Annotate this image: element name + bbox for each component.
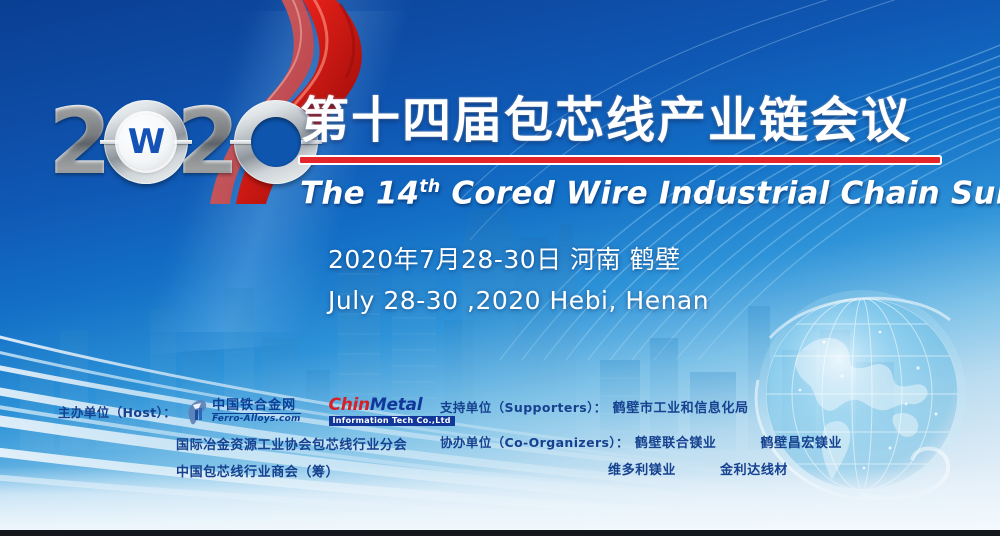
chinmetal-wordmark: ChinMetal [329, 397, 455, 414]
co-organizer-item-3: 维多利镁业 [608, 459, 676, 478]
supporters-row: 支持单位（Supporters）： 鹤壁市工业和信息化局 [440, 397, 749, 416]
chinmetal-logo: ChinMetal Information Tech Co.,Ltd [329, 397, 455, 426]
co-organizers-label: 协办单位（Co-Organizers）： [440, 432, 629, 451]
date-venue-chinese: 2020年7月28-30日 河南 鹤壁 [328, 243, 709, 277]
date-venue-block: 2020年7月28-30日 河南 鹤壁 July 28-30 ,2020 Heb… [328, 243, 709, 318]
ferro-alloys-name-cn: 中国铁合金网 [212, 399, 300, 412]
co-organizers-row: 协办单位（Co-Organizers）： 鹤壁联合镁业 鹤壁昌宏镁业 [440, 432, 842, 451]
chinmetal-name-blue: Metal [370, 395, 422, 415]
title-english-rest: Cored Wire Industrial Chain Summit [440, 175, 1000, 211]
conference-banner: 2 W 2 第十四届包芯线产业链会议 The 14th Cored Wire I… [0, 0, 1000, 536]
bottom-light-band [0, 466, 1000, 530]
co-organizer-item-1: 鹤壁联合镁业 [635, 432, 717, 451]
title-english-ordinal: th [419, 177, 440, 197]
title-chinese: 第十四届包芯线产业链会议 [300, 92, 940, 150]
ferro-alloys-text: 中国铁合金网 Ferro-Alloys.com [212, 399, 300, 424]
host-label: 主办单位（Host）： [58, 402, 176, 421]
host-row: 主办单位（Host）： 中国铁合金网 Ferro-Alloys.com Chin… [58, 397, 455, 426]
ferro-alloys-mark-icon [186, 399, 208, 425]
host-organization-2: 中国包芯线行业商会（筹） [176, 461, 339, 480]
year-logo-2020: 2 W 2 [48, 96, 310, 188]
ferro-alloys-name-en: Ferro-Alloys.com [212, 413, 300, 424]
co-organizers-row2: 维多利镁业 金利达线材 [608, 459, 788, 478]
bottom-edge-strip [0, 530, 1000, 536]
co-organizers-row1: 鹤壁联合镁业 鹤壁昌宏镁业 [635, 432, 842, 451]
supporters-label: 支持单位（Supporters）： [440, 397, 607, 416]
w-emblem-icon: W [118, 114, 174, 170]
ferro-alloys-logo: 中国铁合金网 Ferro-Alloys.com [186, 399, 300, 425]
co-organizer-item-4: 金利达线材 [720, 459, 788, 478]
w-emblem-letter: W [128, 125, 165, 159]
chinmetal-subtitle: Information Tech Co.,Ltd [329, 416, 455, 426]
co-organizer-item-2: 鹤壁昌宏镁业 [761, 432, 843, 451]
title-divider-rule [300, 157, 940, 163]
wireframe-globe [740, 272, 990, 522]
title-block: 第十四届包芯线产业链会议 The 14th Cored Wire Industr… [300, 92, 940, 213]
title-english-prefix: The 14 [300, 175, 419, 211]
host-organization-1: 国际冶金资源工业协会包芯线行业分会 [176, 434, 407, 453]
chinmetal-name-red: Chin [329, 395, 370, 415]
date-venue-english: July 28-30 ,2020 Hebi, Henan [328, 284, 709, 318]
title-english: The 14th Cored Wire Industrial Chain Sum… [300, 167, 940, 213]
supporter-item-1: 鹤壁市工业和信息化局 [613, 397, 749, 416]
